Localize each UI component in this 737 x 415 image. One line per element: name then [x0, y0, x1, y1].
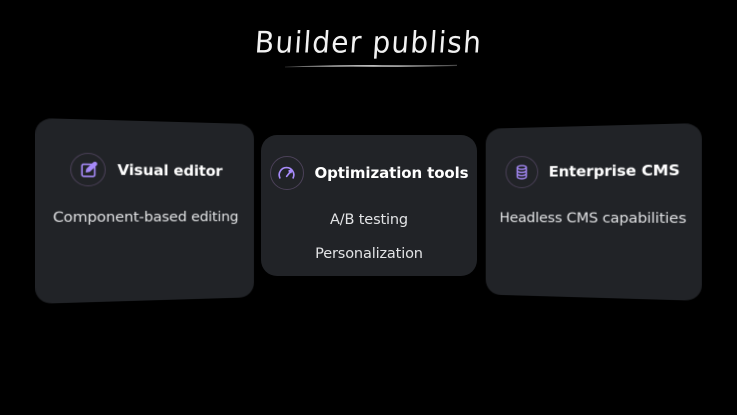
card-body: Headless CMS capabilities: [486, 209, 701, 230]
gauge-speedometer-icon: [270, 156, 304, 190]
card-header: Optimization tools: [270, 156, 469, 190]
card-body-line: A/B testing: [315, 210, 423, 231]
card-title: Optimization tools: [315, 164, 469, 182]
card-enterprise-cms[interactable]: Enterprise CMS Headless CMS capabilities: [486, 123, 702, 301]
card-body: A/B testing Personalization: [301, 210, 437, 264]
card-title: Visual editor: [117, 161, 222, 180]
edit-pencil-square-icon: [71, 153, 106, 187]
card-header: Enterprise CMS: [505, 153, 680, 188]
feature-card-deck: Visual editor Component-based editing Op…: [0, 0, 737, 415]
card-body: Component-based editing: [38, 208, 252, 229]
card-visual-editor[interactable]: Visual editor Component-based editing: [35, 118, 254, 304]
card-body-line: Personalization: [315, 244, 423, 265]
card-title: Enterprise CMS: [549, 161, 680, 180]
card-body-line: Component-based editing: [53, 208, 238, 228]
database-stack-icon: [505, 156, 538, 188]
card-body-line: Headless CMS capabilities: [500, 209, 687, 230]
card-header: Visual editor: [71, 153, 223, 188]
card-optimization-tools[interactable]: Optimization tools A/B testing Personali…: [261, 135, 477, 276]
